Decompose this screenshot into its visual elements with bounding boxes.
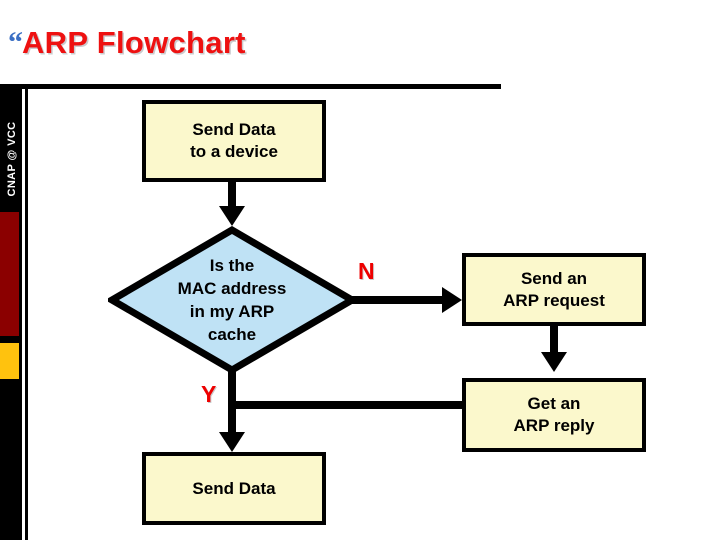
flow-node-send-arp-request[interactable]: Send an ARP request: [462, 253, 646, 326]
connector-reply-to-send-data: [228, 401, 466, 409]
content-left-rule: [25, 89, 28, 540]
flow-node-label: Send Data to a device: [190, 119, 278, 163]
sidebar-block-gold: [0, 343, 19, 379]
branch-label-no: N: [358, 258, 375, 284]
arrowhead-request-to-reply: [541, 352, 567, 372]
connector-decision-to-send-data: [228, 370, 236, 438]
flow-node-mac-in-cache[interactable]: Is the MAC address in my ARP cache: [108, 226, 356, 374]
slide-canvas: “ARP Flowchart CNAP @ VCC Send Data to a…: [0, 0, 720, 540]
arrowhead-decision-to-send-data: [219, 432, 245, 452]
sidebar-label: CNAP @ VCC: [1, 99, 23, 219]
page-title: “ARP Flowchart: [8, 24, 608, 68]
flow-node-label: Send an ARP request: [503, 268, 605, 312]
flow-node-label: Send Data: [192, 478, 275, 500]
flow-node-get-arp-reply[interactable]: Get an ARP reply: [462, 378, 646, 452]
title-quote-glyph: “: [8, 26, 22, 59]
flow-node-send-data-to-device[interactable]: Send Data to a device: [142, 100, 326, 182]
diamond-shape: [108, 226, 356, 374]
flow-node-send-data[interactable]: Send Data: [142, 452, 326, 525]
arrowhead-decision-to-arp-request: [442, 287, 462, 313]
title-divider: [0, 84, 501, 89]
sidebar-block-red: [0, 212, 19, 336]
flow-node-label: Get an ARP reply: [514, 393, 595, 437]
title-text: ARP Flowchart: [22, 25, 246, 60]
branch-label-yes: Y: [201, 381, 216, 407]
arrowhead-device-to-decision: [219, 206, 245, 226]
connector-decision-to-arp-request: [352, 296, 444, 304]
